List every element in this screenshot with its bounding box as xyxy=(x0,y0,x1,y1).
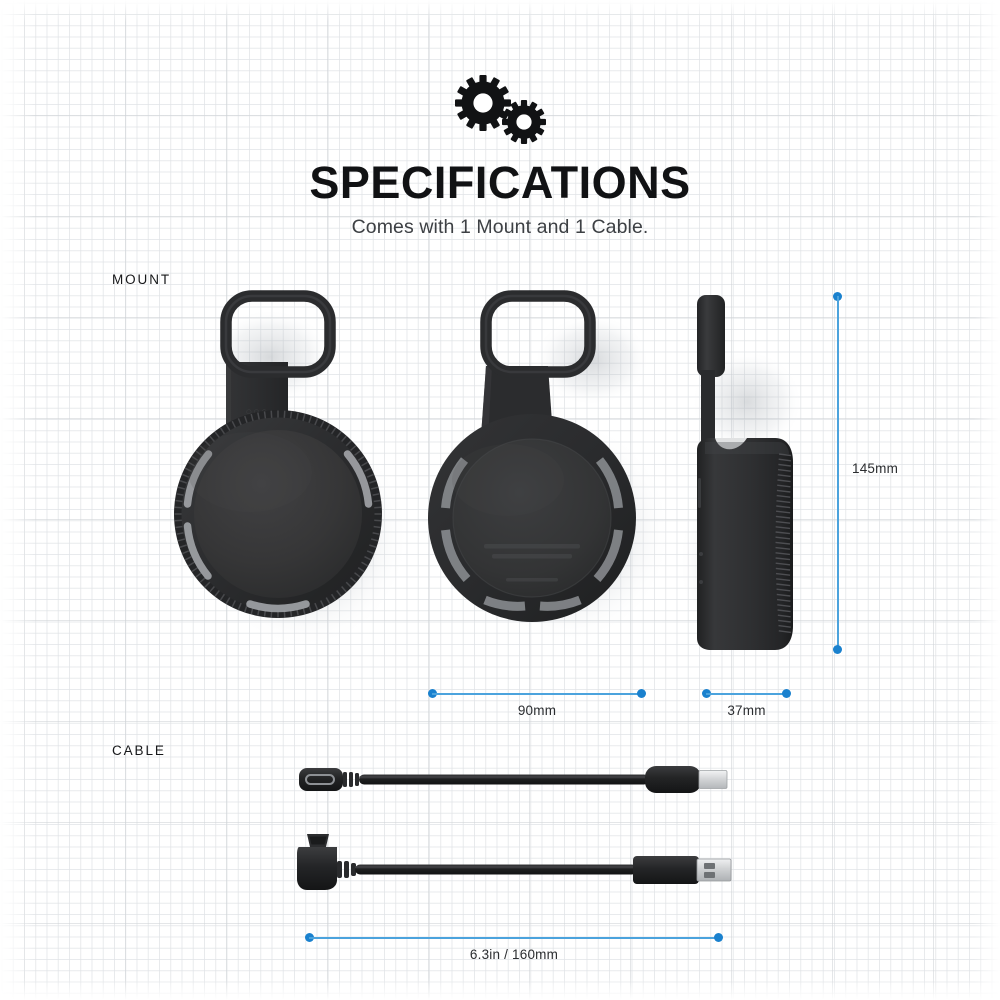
gears-icon xyxy=(450,74,560,146)
dimension-line-height xyxy=(833,292,843,654)
dimension-bar xyxy=(837,296,839,650)
dimension-bar xyxy=(432,693,642,695)
dimension-line-depth xyxy=(702,689,791,699)
dimension-bar xyxy=(706,693,787,695)
dimension-endpoint-right xyxy=(782,689,791,698)
dimension-endpoint-bottom xyxy=(833,645,842,654)
page-subtitle: Comes with 1 Mount and 1 Cable. xyxy=(0,216,1000,239)
mount-front-view: ○○○ xyxy=(150,282,420,672)
dimension-endpoint-right xyxy=(714,933,723,942)
cable-top-view xyxy=(285,758,740,806)
dimension-bar xyxy=(309,937,719,939)
dimension-label-height: 145mm xyxy=(852,461,898,476)
specifications-page: SPECIFICATIONS Comes with 1 Mount and 1 … xyxy=(0,0,1000,1000)
cable-angled-view xyxy=(285,830,740,902)
section-label-cable: CABLE xyxy=(112,743,166,758)
mount-side-view xyxy=(675,282,825,672)
dimension-label-diameter: 90mm xyxy=(428,703,646,718)
mount-back-view xyxy=(410,282,680,672)
page-title: SPECIFICATIONS xyxy=(0,158,1000,208)
dimension-endpoint-right xyxy=(637,689,646,698)
dimension-label-cable-length: 6.3in / 160mm xyxy=(305,947,723,962)
dimension-line-diameter xyxy=(428,689,646,699)
dimension-label-depth: 37mm xyxy=(702,703,791,718)
dimension-line-cable-length xyxy=(305,933,723,943)
